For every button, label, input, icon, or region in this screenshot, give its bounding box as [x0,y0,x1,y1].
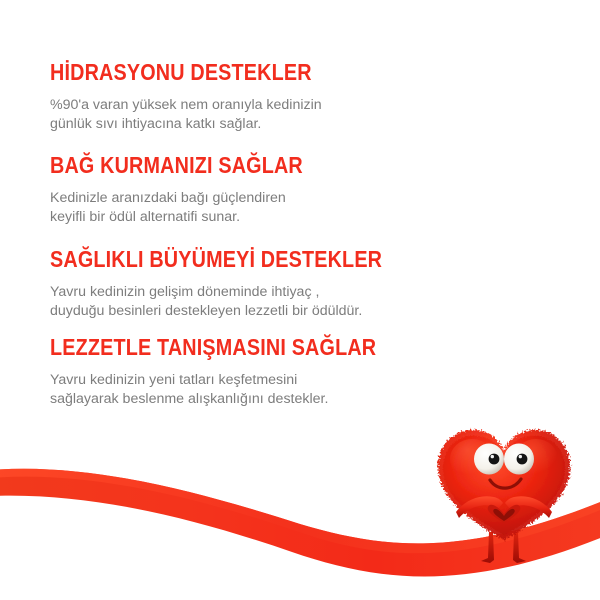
benefit-item-growth: SAĞLIKLI BÜYÜMEYİ DESTEKLER Yavru kedini… [50,247,430,321]
right-pupil-icon [517,454,528,465]
benefits-list: HİDRASYONU DESTEKLER %90'a varan yüksek … [50,60,430,409]
benefit-body: Yavru kedinizin yeni tatları keşfetmesin… [50,371,430,409]
benefit-item-taste: LEZZETLE TANIŞMASINI SAĞLAR Yavru kedini… [50,335,430,409]
poster-canvas: HİDRASYONU DESTEKLER %90'a varan yüksek … [0,0,600,600]
benefit-body: Yavru kedinizin gelişim döneminde ihtiya… [50,283,430,321]
left-pupil-icon [489,454,500,465]
benefit-heading: HİDRASYONU DESTEKLER [50,60,377,85]
benefit-body: %90'a varan yüksek nem oranıyla kedinizi… [50,96,430,134]
benefit-item-hydration: HİDRASYONU DESTEKLER %90'a varan yüksek … [50,60,430,134]
fuzzy-heart-character [432,414,582,574]
benefit-item-bonding: BAĞ KURMANIZI SAĞLAR Kedinizle aranızdak… [50,153,430,227]
benefit-body: Kedinizle aranızdaki bağı güçlendiren ke… [50,189,430,227]
benefit-heading: LEZZETLE TANIŞMASINI SAĞLAR [50,335,377,360]
mascot-body [438,430,570,540]
benefit-heading: SAĞLIKLI BÜYÜMEYİ DESTEKLER [50,247,377,272]
benefit-heading: BAĞ KURMANIZI SAĞLAR [50,153,377,178]
